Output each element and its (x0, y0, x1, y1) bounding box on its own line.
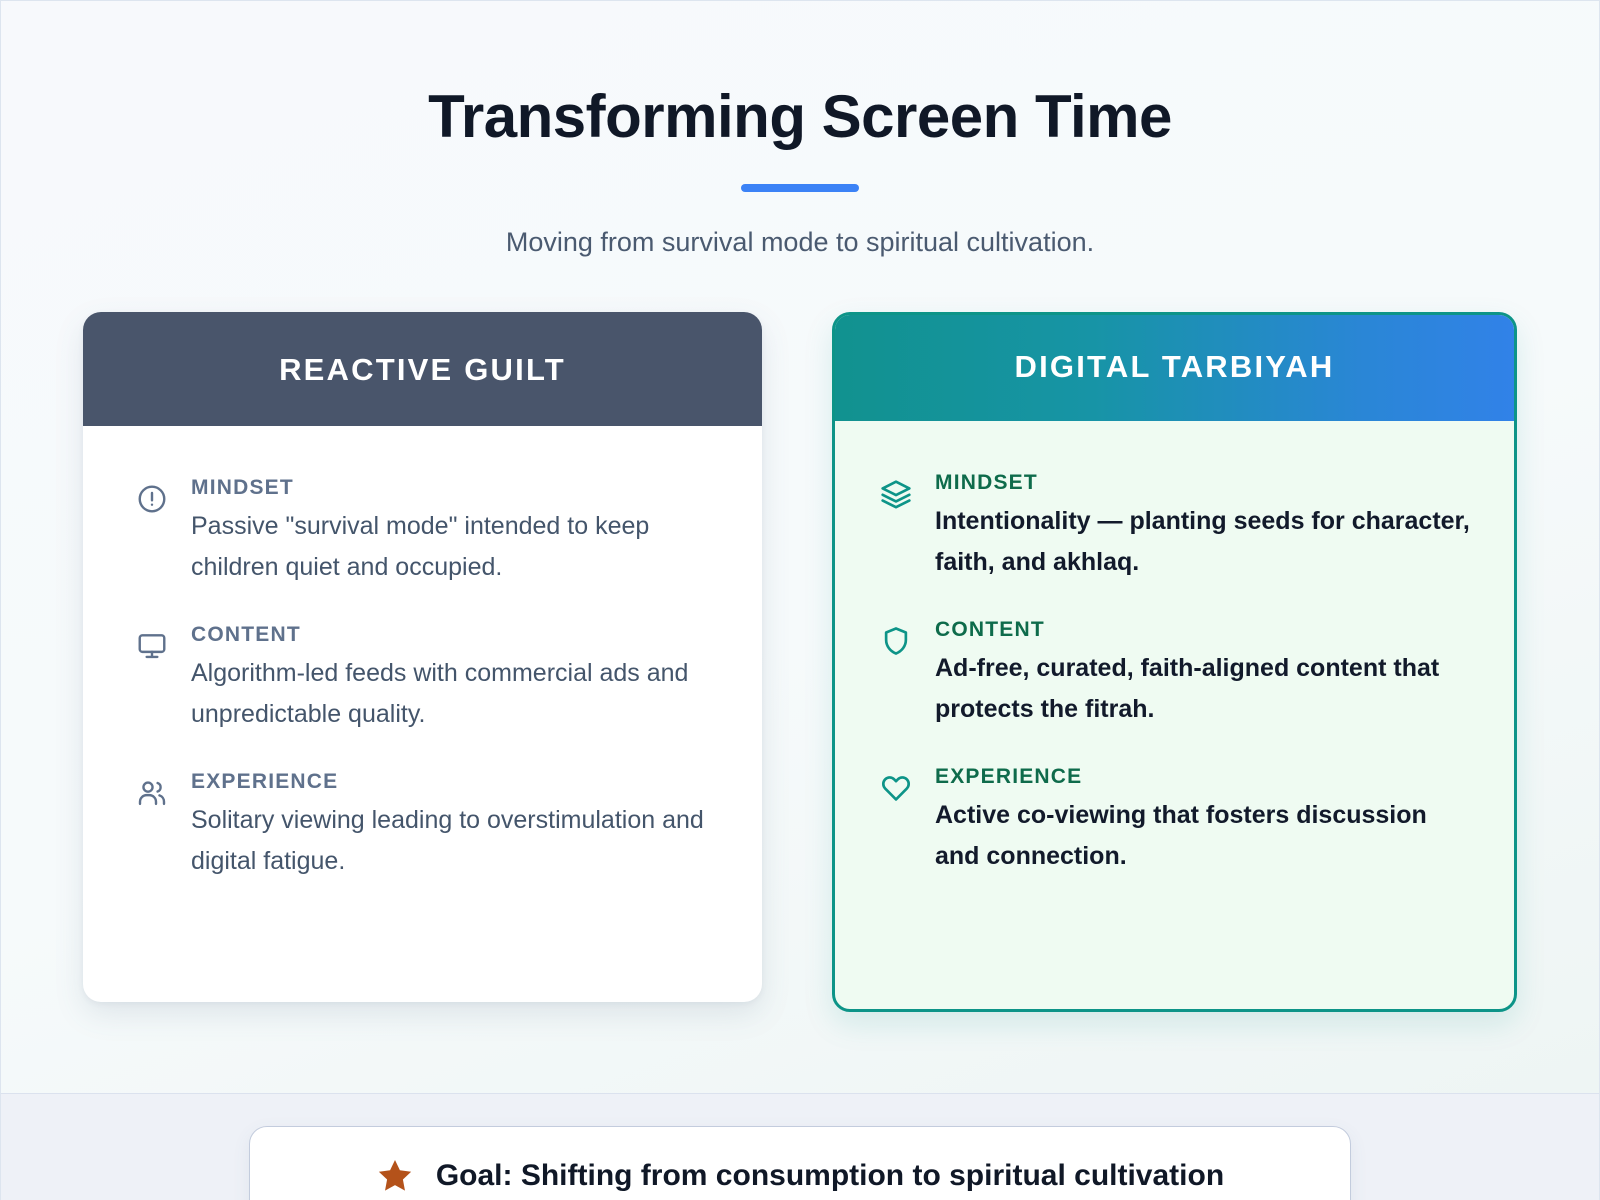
shield-icon (879, 624, 913, 658)
users-icon (135, 776, 169, 810)
feature-description: Ad-free, curated, faith-aligned content … (935, 648, 1470, 729)
title-accent-bar (741, 184, 859, 192)
feature-label: CONTENT (935, 618, 1470, 642)
feature-text: MINDSET Passive "survival mode" intended… (191, 476, 710, 587)
feature-label: MINDSET (935, 471, 1470, 495)
feature-mindset-reactive: MINDSET Passive "survival mode" intended… (135, 476, 710, 587)
feature-experience-reactive: EXPERIENCE Solitary viewing leading to o… (135, 770, 710, 881)
card-reactive-guilt-body: MINDSET Passive "survival mode" intended… (83, 426, 762, 925)
page-title: Transforming Screen Time (81, 1, 1519, 150)
feature-text: CONTENT Ad-free, curated, faith-aligned … (935, 618, 1470, 729)
feature-label: MINDSET (191, 476, 710, 500)
feature-description: Algorithm-led feeds with commercial ads … (191, 653, 710, 734)
page-subtitle: Moving from survival mode to spiritual c… (81, 225, 1519, 260)
card-reactive-guilt-title: REACTIVE GUILT (83, 312, 762, 426)
feature-text: EXPERIENCE Active co-viewing that foster… (935, 765, 1470, 876)
feature-text: MINDSET Intentionality — planting seeds … (935, 471, 1470, 582)
alert-circle-icon (135, 482, 169, 516)
bottom-section: Goal: Shifting from consumption to spiri… (0, 1093, 1600, 1200)
star-icon (376, 1157, 414, 1195)
feature-description: Active co-viewing that fosters discussio… (935, 795, 1470, 876)
page-root: Transforming Screen Time Moving from sur… (0, 0, 1600, 1200)
comparison-cards-row: REACTIVE GUILT MINDSET Passive (81, 312, 1519, 1012)
card-reactive-guilt[interactable]: REACTIVE GUILT MINDSET Passive (83, 312, 762, 1002)
goal-banner-text: Goal: Shifting from consumption to spiri… (436, 1159, 1224, 1193)
feature-content-tarbiyah: CONTENT Ad-free, curated, faith-aligned … (879, 618, 1470, 729)
feature-content-reactive: CONTENT Algorithm-led feeds with commerc… (135, 623, 710, 734)
feature-experience-tarbiyah: EXPERIENCE Active co-viewing that foster… (879, 765, 1470, 876)
monitor-icon (135, 629, 169, 663)
goal-banner[interactable]: Goal: Shifting from consumption to spiri… (249, 1126, 1351, 1200)
feature-description: Passive "survival mode" intended to keep… (191, 506, 710, 587)
heart-icon (879, 771, 913, 805)
card-digital-tarbiyah-title: DIGITAL TARBIYAH (835, 315, 1514, 421)
feature-description: Intentionality — planting seeds for char… (935, 501, 1470, 582)
feature-text: CONTENT Algorithm-led feeds with commerc… (191, 623, 710, 734)
card-digital-tarbiyah-body: MINDSET Intentionality — planting seeds … (835, 421, 1514, 920)
card-digital-tarbiyah[interactable]: DIGITAL TARBIYAH MINDSET Intent (832, 312, 1517, 1012)
feature-mindset-tarbiyah: MINDSET Intentionality — planting seeds … (879, 471, 1470, 582)
hero-section: Transforming Screen Time Moving from sur… (0, 0, 1600, 1093)
feature-label: EXPERIENCE (935, 765, 1470, 789)
layers-icon (879, 477, 913, 511)
feature-label: CONTENT (191, 623, 710, 647)
feature-description: Solitary viewing leading to overstimulat… (191, 800, 710, 881)
feature-text: EXPERIENCE Solitary viewing leading to o… (191, 770, 710, 881)
feature-label: EXPERIENCE (191, 770, 710, 794)
